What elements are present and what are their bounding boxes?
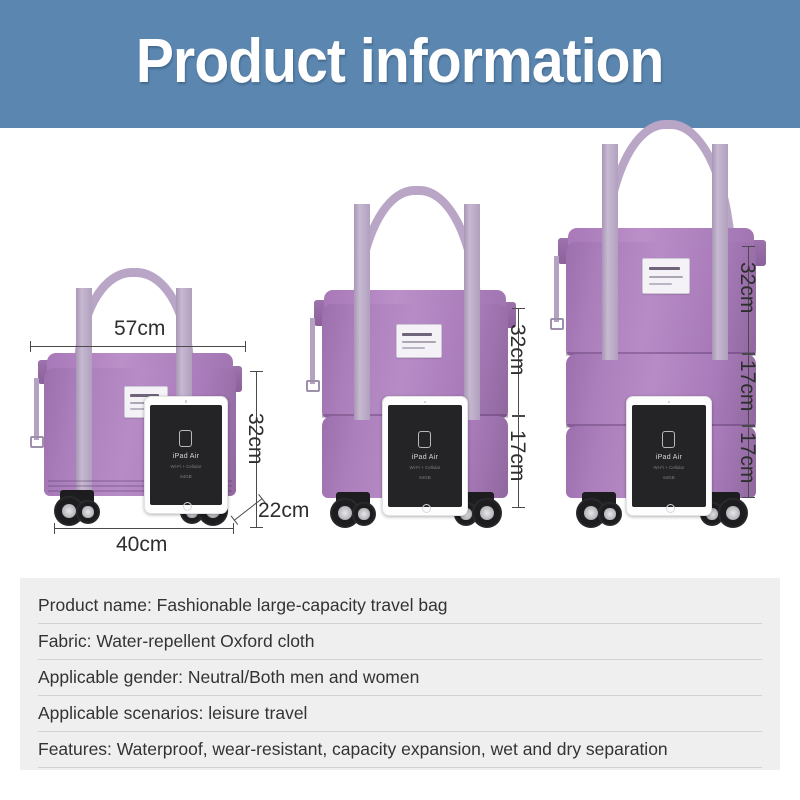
ipad-screen: iPad Air Wi-Fi + Cellular 64GB	[150, 405, 222, 505]
ipad-home-button-icon	[422, 504, 431, 513]
ipad-device-icon	[418, 431, 431, 448]
ipad-sublabel: Wi-Fi + Cellular	[171, 464, 202, 470]
spec-row-scenarios: Applicable scenarios: leisure travel	[38, 696, 762, 732]
dimension-label-expansion-1: 17cm	[507, 430, 528, 481]
product-information-infographic: Product information	[0, 0, 800, 800]
spec-row-product-name: Product name: Fashionable large-capacity…	[38, 588, 762, 624]
product-showcase: iPad Air Wi-Fi + Cellular 64GB 57cm 32cm…	[0, 128, 800, 576]
spec-row-gender: Applicable gender: Neutral/Both men and …	[38, 660, 762, 696]
spec-row-features: Features: Waterproof, wear-resistant, ca…	[38, 732, 762, 768]
brand-patch	[396, 324, 442, 358]
dimension-label-height: 32cm	[245, 413, 266, 464]
dimension-line-base-width	[54, 528, 234, 529]
header-banner: Product information	[0, 0, 800, 128]
dimension-label-main-height: 32cm	[507, 324, 528, 375]
ipad-screen: iPad Air Wi-Fi + Cellular 64GB	[632, 405, 706, 506]
ipad-camera-icon	[668, 401, 671, 404]
wheel-rear-right	[718, 498, 748, 528]
dimension-label-main-height: 32cm	[737, 262, 758, 313]
ipad-camera-icon	[185, 400, 188, 403]
side-strap	[310, 318, 315, 384]
strap-vertical-left	[602, 144, 618, 360]
wheel-rear-left	[352, 502, 376, 526]
d-ring-icon	[306, 380, 320, 392]
page-title: Product information	[136, 31, 664, 93]
ipad-detail: 64GB	[663, 475, 675, 481]
ipad-screen: iPad Air Wi-Fi + Cellular 64GB	[388, 405, 462, 506]
ipad-sublabel: Wi-Fi + Cellular	[410, 465, 441, 471]
specification-list: Product name: Fashionable large-capacity…	[38, 588, 762, 768]
ipad-sublabel: Wi-Fi + Cellular	[654, 465, 685, 471]
ipad-detail: 64GB	[180, 474, 192, 480]
side-strap	[34, 378, 39, 440]
strap-vertical-left	[76, 288, 92, 496]
ipad-overlay: iPad Air Wi-Fi + Cellular 64GB	[382, 396, 468, 516]
ipad-home-button-icon	[183, 502, 192, 511]
bag-figure-expanded-one: iPad Air Wi-Fi + Cellular 64GB 32cm 17cm	[300, 128, 550, 548]
dimension-label-base-width: 40cm	[116, 534, 167, 555]
strap-vertical-right	[464, 204, 480, 420]
bag-figure-expanded-two: iPad Air Wi-Fi + Cellular 64GB 32cm 17cm…	[548, 128, 800, 548]
side-strap	[554, 256, 559, 322]
brand-patch	[642, 258, 690, 294]
bag-figure-folded: iPad Air Wi-Fi + Cellular 64GB 57cm 32cm…	[18, 128, 288, 548]
wheel-rear-right	[472, 498, 502, 528]
ipad-device-icon	[662, 431, 675, 448]
d-ring-icon	[550, 318, 564, 330]
wheel-rear-left	[76, 500, 100, 524]
strap-vertical-right	[712, 144, 728, 360]
d-ring-icon	[30, 436, 44, 448]
ipad-detail: 64GB	[419, 475, 431, 481]
ipad-camera-icon	[424, 401, 427, 404]
ipad-device-icon	[179, 430, 192, 447]
ipad-label: iPad Air	[656, 454, 683, 461]
spec-row-fabric: Fabric: Water-repellent Oxford cloth	[38, 624, 762, 660]
specification-panel: Product name: Fashionable large-capacity…	[20, 578, 780, 770]
dimension-line-width-top	[30, 346, 246, 347]
ipad-home-button-icon	[666, 504, 675, 513]
ipad-overlay: iPad Air Wi-Fi + Cellular 64GB	[626, 396, 712, 516]
dimension-label-width-top: 57cm	[114, 318, 165, 339]
ipad-overlay: iPad Air Wi-Fi + Cellular 64GB	[144, 396, 228, 514]
dimension-label-expansion-2: 17cm	[737, 432, 758, 483]
strap-vertical-left	[354, 204, 370, 420]
wheel-rear-left	[598, 502, 622, 526]
dimension-label-expansion-1: 17cm	[737, 360, 758, 411]
ipad-label: iPad Air	[173, 453, 200, 460]
ipad-label: iPad Air	[412, 454, 439, 461]
